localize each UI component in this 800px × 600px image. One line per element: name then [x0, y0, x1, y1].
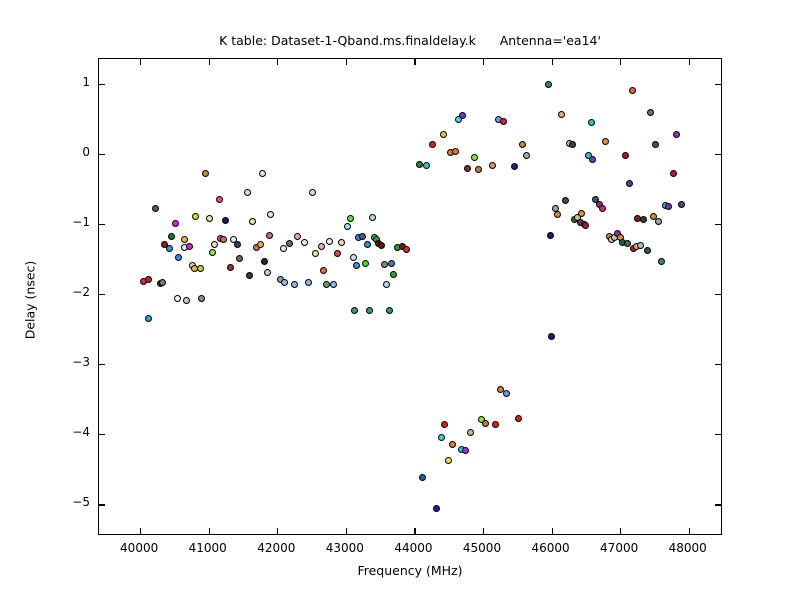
data-point: [350, 254, 357, 261]
y-tick-right-3: [715, 294, 721, 295]
data-point: [211, 241, 218, 248]
plot-axes: [98, 58, 722, 535]
data-point: [383, 281, 390, 288]
data-point: [644, 247, 651, 254]
x-tick-2: [277, 528, 278, 534]
data-point: [347, 215, 354, 222]
y-tick-2: [99, 224, 105, 225]
data-point: [168, 233, 175, 240]
data-point: [441, 421, 448, 428]
data-point: [599, 205, 606, 212]
x-tick-1: [209, 528, 210, 534]
data-point: [582, 222, 589, 229]
data-point: [294, 233, 301, 240]
data-point: [602, 138, 609, 145]
x-axis-label: Frequency (MHz): [98, 563, 722, 578]
data-point: [545, 81, 552, 88]
y-tick-label-6: −5: [50, 495, 90, 509]
y-tick-right-2: [715, 224, 721, 225]
data-point: [280, 245, 287, 252]
data-point: [227, 264, 234, 271]
data-point: [464, 165, 471, 172]
data-point: [362, 260, 369, 267]
x-tick-top-6: [552, 59, 553, 65]
data-point: [369, 214, 376, 221]
data-point: [267, 211, 274, 218]
data-point: [589, 156, 596, 163]
y-tick-6: [99, 504, 105, 505]
data-point: [381, 261, 388, 268]
data-point: [445, 457, 452, 464]
data-point: [440, 131, 447, 138]
data-point: [462, 447, 469, 454]
data-point: [216, 196, 223, 203]
data-point: [330, 281, 337, 288]
data-point: [286, 240, 293, 247]
data-point: [503, 390, 510, 397]
data-point: [390, 271, 397, 278]
data-point: [198, 295, 205, 302]
data-point: [202, 170, 209, 177]
data-point: [181, 236, 188, 243]
data-point: [197, 265, 204, 272]
data-point: [159, 279, 166, 286]
data-point: [554, 211, 561, 218]
data-point: [174, 295, 181, 302]
data-point: [452, 148, 459, 155]
data-point: [629, 87, 636, 94]
y-tick-label-4: −3: [50, 355, 90, 369]
y-tick-right-4: [715, 364, 721, 365]
data-point: [166, 245, 173, 252]
x-tick-top-0: [140, 59, 141, 65]
data-point: [291, 281, 298, 288]
data-point: [467, 429, 474, 436]
data-point: [301, 239, 308, 246]
data-point: [209, 249, 216, 256]
data-point: [206, 215, 213, 222]
data-point: [471, 154, 478, 161]
data-point: [378, 242, 385, 249]
y-tick-0: [99, 84, 105, 85]
data-point: [359, 233, 366, 240]
data-point: [475, 166, 482, 173]
x-tick-top-1: [209, 59, 210, 65]
data-point: [312, 250, 319, 257]
x-tick-8: [689, 528, 690, 534]
x-tick-top-5: [483, 59, 484, 65]
data-point: [558, 111, 565, 118]
data-point: [569, 141, 576, 148]
data-point: [220, 236, 227, 243]
data-point: [364, 241, 371, 248]
data-point: [578, 210, 585, 217]
data-point: [419, 474, 426, 481]
data-point: [588, 119, 595, 126]
data-point: [492, 421, 499, 428]
data-point: [500, 118, 507, 125]
data-point: [152, 205, 159, 212]
data-point: [334, 250, 341, 257]
y-tick-5: [99, 434, 105, 435]
y-tick-right-1: [715, 154, 721, 155]
x-tick-label-8: 48000: [648, 541, 728, 555]
data-point: [673, 131, 680, 138]
x-tick-4: [414, 528, 415, 534]
data-point: [326, 238, 333, 245]
data-point: [459, 112, 466, 119]
data-point: [192, 213, 199, 220]
data-point: [183, 297, 190, 304]
data-point: [234, 241, 241, 248]
data-point: [259, 170, 266, 177]
x-tick-top-8: [689, 59, 690, 65]
data-point: [344, 223, 351, 230]
x-tick-top-2: [277, 59, 278, 65]
data-point: [433, 505, 440, 512]
x-tick-0: [140, 528, 141, 534]
data-point: [264, 269, 271, 276]
data-point: [318, 243, 325, 250]
data-point: [172, 220, 179, 227]
data-point: [366, 307, 373, 314]
data-point: [548, 333, 555, 340]
data-point: [670, 170, 677, 177]
data-point: [626, 180, 633, 187]
data-point: [305, 279, 312, 286]
y-tick-label-1: 0: [50, 145, 90, 159]
data-point: [523, 152, 530, 159]
data-point: [438, 434, 445, 441]
data-point: [665, 203, 672, 210]
data-point: [511, 163, 518, 170]
data-point: [244, 189, 251, 196]
data-point: [655, 218, 662, 225]
data-point: [647, 109, 654, 116]
data-point: [257, 241, 264, 248]
x-tick-3: [346, 528, 347, 534]
data-point: [249, 218, 256, 225]
x-tick-6: [552, 528, 553, 534]
data-point: [622, 152, 629, 159]
data-point: [519, 141, 526, 148]
data-point: [222, 217, 229, 224]
page-title: K table: Dataset-1-Qband.ms.finaldelay.k…: [98, 33, 722, 49]
figure-canvas: K table: Dataset-1-Qband.ms.finaldelay.k…: [0, 0, 800, 600]
data-point: [403, 246, 410, 253]
data-point: [261, 258, 268, 265]
x-tick-top-7: [620, 59, 621, 65]
data-point: [266, 232, 273, 239]
data-point: [423, 162, 430, 169]
data-point: [489, 162, 496, 169]
data-point: [449, 441, 456, 448]
data-point: [186, 243, 193, 250]
y-tick-label-5: −4: [50, 425, 90, 439]
y-tick-label-0: 1: [50, 75, 90, 89]
data-point: [429, 141, 436, 148]
data-point: [145, 276, 152, 283]
y-tick-1: [99, 154, 105, 155]
y-tick-right-6: [715, 504, 721, 505]
data-point: [388, 260, 395, 267]
data-point: [562, 197, 569, 204]
data-point: [640, 216, 647, 223]
y-tick-label-3: −2: [50, 285, 90, 299]
data-point: [515, 415, 522, 422]
data-point: [658, 258, 665, 265]
y-tick-3: [99, 294, 105, 295]
data-point: [351, 307, 358, 314]
data-point: [338, 239, 345, 246]
scatter-series: [99, 59, 721, 534]
data-point: [309, 189, 316, 196]
data-point: [175, 254, 182, 261]
data-point: [353, 262, 360, 269]
x-tick-7: [620, 528, 621, 534]
y-axis-label: Delay (nsec): [23, 261, 38, 340]
data-point: [236, 255, 243, 262]
x-tick-top-3: [346, 59, 347, 65]
data-point: [652, 141, 659, 148]
x-tick-5: [483, 528, 484, 534]
data-point: [482, 420, 489, 427]
y-tick-label-2: −1: [50, 215, 90, 229]
x-tick-top-4: [414, 59, 415, 65]
data-point: [145, 315, 152, 322]
data-point: [320, 267, 327, 274]
data-point: [637, 242, 644, 249]
y-tick-4: [99, 364, 105, 365]
data-point: [281, 279, 288, 286]
y-tick-right-5: [715, 434, 721, 435]
y-tick-right-0: [715, 84, 721, 85]
data-point: [547, 232, 554, 239]
data-point: [678, 201, 685, 208]
data-point: [386, 307, 393, 314]
data-point: [246, 272, 253, 279]
